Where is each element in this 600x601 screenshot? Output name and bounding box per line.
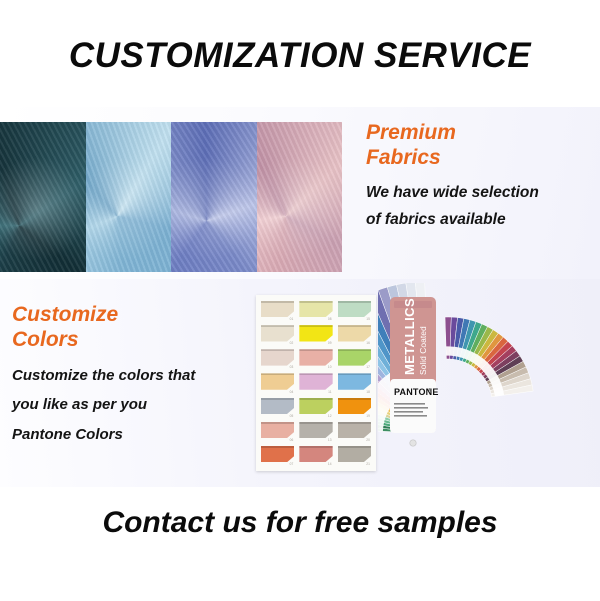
customize-colors-heading-line2: Colors	[12, 328, 262, 353]
color-chip-number: 08	[328, 317, 332, 321]
color-chip-swatch	[261, 422, 294, 438]
color-chip-swatch	[299, 446, 332, 462]
color-chip: 19	[337, 397, 372, 418]
color-chip-swatch	[338, 398, 371, 414]
fabric-swatch-dark-teal	[0, 122, 86, 272]
cover-title-text: METALLICS	[402, 298, 417, 375]
premium-fabrics-heading-line1: Premium	[366, 121, 598, 146]
color-chip-number: 04	[290, 390, 294, 394]
color-chip: 06	[260, 421, 295, 442]
color-chip-swatch	[299, 301, 332, 317]
color-chip-number: 19	[366, 414, 370, 418]
poster-footer: Contact us for free samples	[0, 506, 600, 540]
fabric-swatch-sky-blue	[86, 122, 172, 272]
color-chip-number: 12	[328, 414, 332, 418]
fabric-sheen	[86, 122, 172, 272]
color-chip-number: 01	[290, 317, 294, 321]
color-chip: 21	[337, 445, 372, 466]
customization-service-poster: CUSTOMIZATION SERVICE Premium	[0, 0, 600, 601]
color-chip: 01	[260, 300, 295, 321]
color-chip: 02	[260, 324, 295, 345]
fan-deck-cover: METALLICS Solid Coated PANTONE ®	[390, 297, 439, 446]
color-chip-swatch	[261, 349, 294, 365]
color-chip-number: 14	[328, 462, 332, 466]
color-chip-swatch	[338, 422, 371, 438]
color-chip-swatch	[261, 325, 294, 341]
color-chip-swatch	[261, 398, 294, 414]
customize-colors-text-block: Customize Colors Customize the colors th…	[12, 303, 262, 449]
customize-colors-body-line2: you like as per you	[12, 390, 262, 419]
color-chip: 16	[337, 324, 372, 345]
pantone-wordmark: PANTONE	[394, 387, 439, 397]
color-chip-swatch	[338, 349, 371, 365]
color-chip: 03	[260, 348, 295, 369]
color-chip-swatch	[299, 325, 332, 341]
color-chip: 05	[260, 397, 295, 418]
registered-mark: ®	[428, 387, 431, 392]
customize-colors-heading-line1: Customize	[12, 303, 262, 328]
color-chip-number: 20	[366, 438, 370, 442]
color-chip: 07	[260, 445, 295, 466]
fabric-swatch-periwinkle	[171, 122, 257, 272]
color-chip-swatch	[261, 373, 294, 389]
fan-blades-lower	[445, 317, 533, 397]
fabric-sheen	[257, 122, 343, 272]
premium-fabrics-body-line1: We have wide selection	[366, 179, 598, 206]
fabric-swatch-strip	[0, 122, 342, 272]
premium-fabrics-body-line2: of fabrics available	[366, 206, 598, 233]
color-chip-swatch	[299, 373, 332, 389]
poster-footer-text: Contact us for free samples	[102, 506, 497, 539]
color-chip-swatch	[338, 446, 371, 462]
section-customize-colors: Customize Colors Customize the colors th…	[0, 279, 600, 487]
color-chip-number: 09	[328, 341, 332, 345]
color-chip-swatch	[338, 373, 371, 389]
cover-subtitle-text: Solid Coated	[418, 326, 428, 375]
color-chip-number: 03	[290, 365, 294, 369]
pastel-color-swatch-card: 0108150209160310170411180512190613200714…	[256, 295, 376, 471]
section-premium-fabrics: Premium Fabrics We have wide selection o…	[0, 107, 600, 279]
color-chip: 09	[298, 324, 333, 345]
color-chip: 08	[298, 300, 333, 321]
poster-title-text: CUSTOMIZATION SERVICE	[69, 36, 531, 75]
color-chip: 14	[298, 445, 333, 466]
color-chip: 11	[298, 372, 333, 393]
color-chip-swatch	[299, 398, 332, 414]
color-chip-number: 10	[328, 365, 332, 369]
fan-pivot	[410, 440, 416, 446]
fabric-sheen	[171, 122, 257, 272]
color-chip-number: 05	[290, 414, 294, 418]
premium-fabrics-heading: Premium Fabrics	[366, 121, 598, 170]
fan-blade-label	[446, 346, 450, 355]
color-chip-number: 11	[328, 390, 332, 394]
pantone-fan-deck-graphic: METALLICS Solid Coated PANTONE ®	[378, 283, 594, 481]
fabric-swatch-dusty-pink	[257, 122, 343, 272]
color-chip: 20	[337, 421, 372, 442]
color-chip-number: 18	[366, 390, 370, 394]
color-chip-number: 21	[366, 462, 370, 466]
color-chip: 10	[298, 348, 333, 369]
color-chip-number: 07	[290, 462, 294, 466]
premium-fabrics-text-block: Premium Fabrics We have wide selection o…	[366, 121, 598, 233]
customize-colors-heading: Customize Colors	[12, 303, 262, 352]
color-chip-swatch	[338, 301, 371, 317]
color-chip: 18	[337, 372, 372, 393]
color-chip-swatch	[299, 422, 332, 438]
poster-title: CUSTOMIZATION SERVICE	[0, 36, 600, 76]
color-chip-number: 06	[290, 438, 294, 442]
color-chip-number: 17	[366, 365, 370, 369]
color-chip-swatch	[338, 325, 371, 341]
color-chip-number: 02	[290, 341, 294, 345]
color-chip: 13	[298, 421, 333, 442]
color-chip-swatch	[299, 349, 332, 365]
color-chip-number: 16	[366, 341, 370, 345]
color-chip: 15	[337, 300, 372, 321]
premium-fabrics-heading-line2: Fabrics	[366, 146, 598, 171]
color-chip-swatch	[261, 446, 294, 462]
color-chip: 04	[260, 372, 295, 393]
color-chip-number: 15	[366, 317, 370, 321]
color-chip: 17	[337, 348, 372, 369]
fabric-sheen	[0, 122, 86, 272]
customize-colors-body-line3: Pantone Colors	[12, 420, 262, 449]
pantone-fan-deck: METALLICS Solid Coated PANTONE ®	[378, 283, 594, 481]
color-chip-swatch	[261, 301, 294, 317]
color-chip-number: 13	[328, 438, 332, 442]
customize-colors-body-line1: Customize the colors that	[12, 361, 262, 390]
color-chip: 12	[298, 397, 333, 418]
